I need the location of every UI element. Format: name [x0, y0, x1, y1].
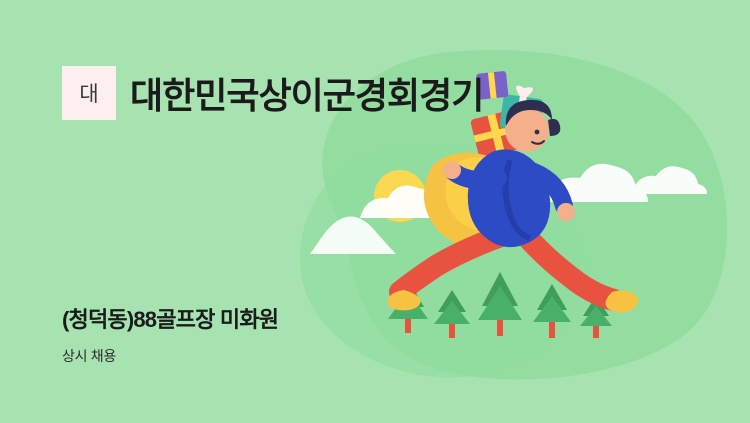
- card-footer: (청덕동)88골프장 미화원 상시 채용: [62, 302, 278, 366]
- job-location-title: (청덕동)88골프장 미화원: [62, 302, 278, 334]
- organization-badge: 대: [62, 66, 116, 120]
- page-title: 대한민국상이군경회경기: [130, 67, 483, 119]
- card-header: 대 대한민국상이군경회경기: [62, 66, 483, 120]
- job-posting-card: 대 대한민국상이군경회경기 (청덕동)88골프장 미화원 상시 채용: [0, 0, 750, 423]
- organization-badge-label: 대: [79, 78, 98, 108]
- recruitment-status: 상시 채용: [62, 346, 278, 366]
